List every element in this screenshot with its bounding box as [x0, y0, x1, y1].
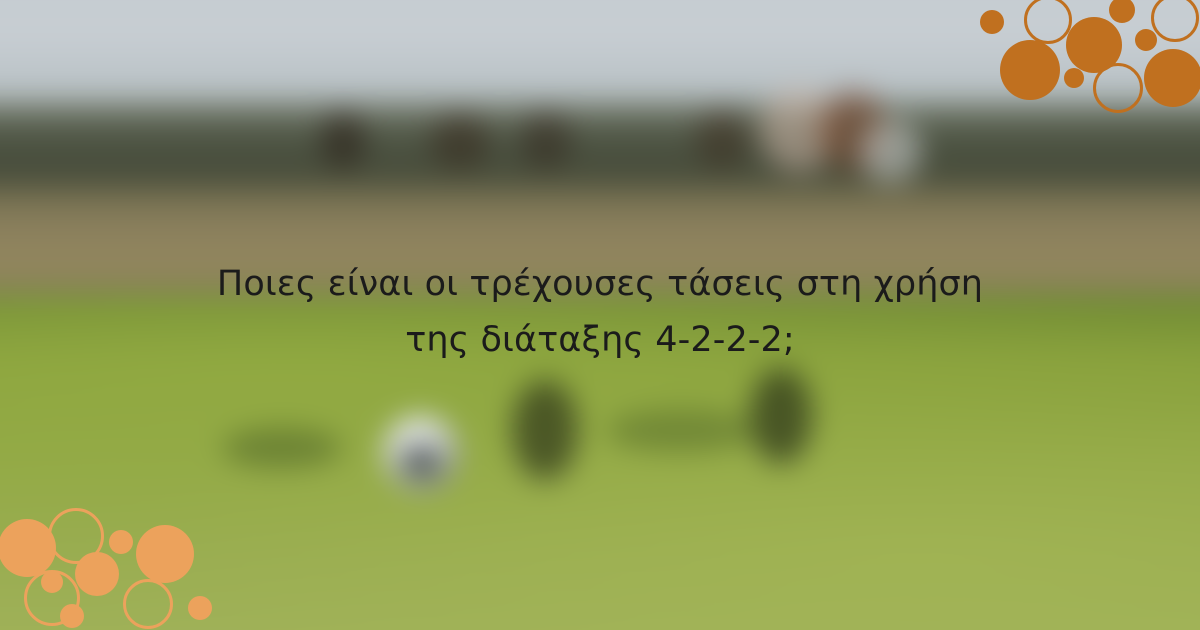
decor-circle-filled — [0, 519, 56, 577]
share-card-canvas: Ποιες είναι οι τρέχουσες τάσεις στη χρήσ… — [0, 0, 1200, 630]
decor-circle-filled — [188, 596, 212, 620]
blurred-person — [520, 110, 572, 168]
decor-circles-bottom-left — [0, 490, 240, 630]
decor-circle-filled — [60, 604, 84, 628]
decor-circle-filled — [980, 10, 1004, 34]
decor-circle-filled — [1109, 0, 1135, 23]
decor-circle-outline — [1024, 0, 1072, 44]
blurred-person — [858, 120, 922, 182]
decor-circle-filled — [1064, 68, 1084, 88]
decor-circle-filled — [109, 530, 133, 554]
headline-line-1: Ποιες είναι οι τρέχουσες τάσεις στη χρήσ… — [217, 264, 983, 304]
decor-circle-outline — [1093, 63, 1143, 113]
decor-circle-filled — [136, 525, 194, 583]
card-headline: Ποιες είναι οι τρέχουσες τάσεις στη χρήσ… — [170, 257, 1030, 368]
grass-shadow — [222, 428, 342, 468]
headline-line-2: της διάταξης 4-2-2-2; — [405, 320, 795, 360]
blurred-person — [695, 108, 749, 168]
question-card: Ποιες είναι οι τρέχουσες τάσεις στη χρήσ… — [100, 197, 1100, 428]
blurred-person — [430, 112, 490, 168]
decor-circle-filled — [41, 571, 63, 593]
decor-circle-outline — [123, 579, 173, 629]
decor-circle-filled — [1135, 29, 1157, 51]
decor-circles-top-right — [970, 0, 1200, 140]
soccer-ball-shadow — [400, 444, 440, 478]
decor-circle-filled — [75, 552, 119, 596]
decor-circle-filled — [1144, 49, 1200, 107]
decor-circle-filled — [1000, 40, 1060, 100]
decor-circle-outline — [1151, 0, 1199, 42]
blurred-person — [320, 110, 366, 168]
